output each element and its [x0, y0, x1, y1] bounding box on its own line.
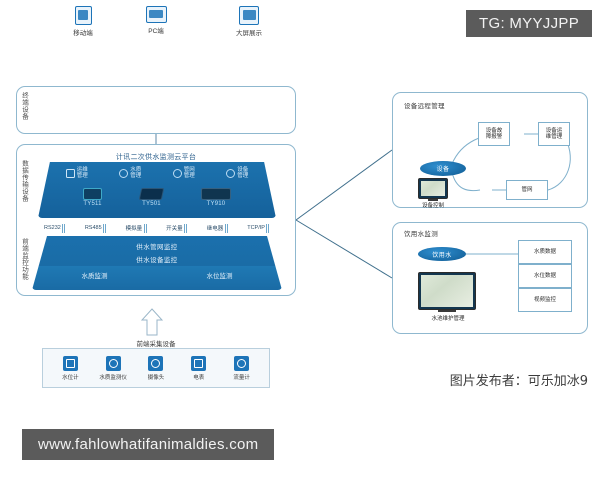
management-label: 水质 管理 — [130, 167, 141, 179]
management-label: 运维 管理 — [77, 167, 88, 179]
terminal-device-mobile[interactable]: 移动端 — [56, 6, 110, 37]
management-item-pipe-network[interactable]: 管网 管理 — [173, 167, 195, 179]
monitoring-water-quality: 水质监测 — [32, 270, 157, 280]
router-device-icon — [201, 188, 231, 200]
signal-wave-icon — [184, 224, 188, 233]
water-monitor-caption: 水池维护管理 — [412, 314, 484, 322]
collection-devices-container: 水位计 水质监测仪 摄像头 电表 流量计 — [42, 348, 270, 388]
collection-device-water-quality[interactable]: 水质监测仪 — [93, 356, 133, 381]
water-hub-node[interactable]: 饮用水 — [418, 247, 466, 261]
node-label-line2: 障报警 — [486, 134, 503, 140]
electric-meter-icon — [191, 356, 206, 371]
water-node-level-data[interactable]: 水位数据 — [518, 264, 572, 288]
signal-wave-icon — [266, 224, 270, 233]
water-drop-icon — [119, 169, 128, 178]
flow-meter-icon — [234, 356, 249, 371]
management-label-line2: 管理 — [237, 173, 248, 179]
protocol-label: RS232 — [44, 225, 61, 231]
management-label: 设备 管理 — [237, 167, 248, 179]
protocol-tcpip: TCP/IP — [247, 224, 270, 233]
water-node-video-monitor[interactable]: 视频监控 — [518, 288, 572, 312]
collection-device-label: 水位计 — [50, 373, 90, 381]
protocol-rs232: RS232 — [44, 224, 66, 233]
monitoring-line-equipment: 供水设备监控 — [32, 254, 282, 264]
signal-wave-icon — [103, 224, 107, 233]
protocol-label: 开关量 — [166, 224, 183, 232]
management-label: 管网 管理 — [184, 167, 195, 179]
platform-management-row: 运维 管理 水质 管理 管网 管理 — [38, 167, 276, 179]
platform-device-ty511[interactable]: TY511 — [83, 188, 102, 207]
water-node-quality-data[interactable]: 水质数据 — [518, 240, 572, 264]
water-quality-analyzer-icon — [106, 356, 121, 371]
monitoring-line-pipe: 供水管网监控 — [32, 241, 282, 251]
checklist-icon — [66, 169, 75, 178]
platform-device-row: TY511 TY501 TY910 — [38, 188, 276, 207]
collection-device-label: 摄像头 — [136, 373, 176, 381]
frontend-monitoring-slab: 供水管网监控 供水设备监控 水质监测 水位监测 — [32, 236, 282, 290]
remote-hub-node[interactable]: 设备 — [420, 161, 466, 176]
monitoring-water-level: 水位监测 — [157, 270, 282, 280]
signal-wave-icon — [143, 224, 147, 233]
platform-device-ty501[interactable]: TY501 — [140, 188, 163, 207]
protocol-label: 继电器 — [207, 224, 224, 232]
platform-title: 计讯二次供水监测云平台 — [16, 152, 296, 162]
management-item-ops[interactable]: 运维 管理 — [66, 167, 88, 179]
terminal-device-label: 移动端 — [56, 27, 110, 37]
layer-label-terminal: 终端设备 — [20, 92, 27, 128]
protocol-switch: 开关量 — [166, 224, 188, 233]
collection-device-label: 电表 — [179, 373, 219, 381]
remote-node-fault-alarm[interactable]: 设备故 障报警 — [478, 122, 510, 146]
water-panel-title: 饮用水监测 — [404, 228, 438, 238]
protocol-strip: RS232 RS485 模拟量 开关量 继电器 TCP/IP — [38, 222, 276, 234]
pipe-network-icon — [173, 169, 182, 178]
management-label-line2: 管理 — [184, 173, 195, 179]
camera-icon — [148, 356, 163, 371]
remote-node-ops-management[interactable]: 设备运 维管理 — [538, 122, 570, 146]
terminal-device-bigscreen[interactable]: 大屏展示 — [222, 6, 276, 37]
collection-device-meter[interactable]: 电表 — [179, 356, 219, 381]
layer-label-transmission: 数据传输设备 — [20, 160, 27, 212]
monitoring-split-row: 水质监测 水位监测 — [32, 270, 282, 280]
platform-device-ty910[interactable]: TY910 — [201, 188, 231, 207]
cloud-platform-slab: 运维 管理 水质 管理 管网 管理 — [38, 162, 276, 218]
remote-panel-title: 设备远程管理 — [404, 100, 445, 110]
protocol-label: TCP/IP — [247, 225, 265, 231]
collection-device-camera[interactable]: 摄像头 — [136, 356, 176, 381]
protocol-analog: 模拟量 — [126, 224, 148, 233]
protocol-relay: 继电器 — [207, 224, 229, 233]
management-item-water-quality[interactable]: 水质 管理 — [119, 167, 141, 179]
collection-device-label: 流量计 — [222, 373, 262, 381]
mobile-phone-icon — [75, 6, 92, 25]
terminal-device-label: PC端 — [129, 25, 183, 35]
rtu-device-icon — [83, 188, 102, 200]
layer-label-frontend-function: 前端监控功能 — [20, 238, 27, 290]
wifi-device-icon — [226, 169, 235, 178]
signal-wave-icon — [62, 224, 66, 233]
monitor-stand — [438, 310, 456, 312]
diagram-canvas: 终端设备 移动端 PC端 大屏展示 数据传输设备 前端监控功能 计讯二次供水监测… — [0, 0, 600, 480]
management-label-line2: 管理 — [130, 173, 141, 179]
remote-monitor-caption: 设备控制 — [408, 201, 458, 209]
water-monitor-screen-icon — [418, 272, 476, 310]
node-label-line2: 维管理 — [546, 134, 563, 140]
platform-device-name: TY910 — [201, 201, 231, 207]
management-label-line2: 管理 — [77, 173, 88, 179]
terminal-layer-container — [16, 86, 296, 134]
terminal-device-label: 大屏展示 — [222, 27, 276, 37]
terminal-device-pc[interactable]: PC端 — [129, 6, 183, 35]
desktop-monitor-icon — [146, 6, 167, 23]
platform-device-name: TY511 — [83, 201, 102, 207]
management-item-device[interactable]: 设备 管理 — [226, 167, 248, 179]
gateway-device-icon — [139, 188, 165, 200]
protocol-label: 模拟量 — [126, 224, 143, 232]
collection-device-water-level[interactable]: 水位计 — [50, 356, 90, 381]
collection-title: 前端采集设备 — [16, 338, 296, 348]
large-screen-display-icon — [239, 6, 259, 25]
url-watermark-badge: www.fahlowhatifanimaldies.com — [22, 429, 274, 460]
collection-device-flow[interactable]: 流量计 — [222, 356, 262, 381]
remote-node-pipe-network[interactable]: 管网 — [506, 180, 548, 200]
protocol-rs485: RS485 — [85, 224, 107, 233]
tg-watermark-badge: TG: MYYJJPP — [466, 10, 592, 37]
remote-monitor-screen-icon — [418, 178, 448, 199]
signal-wave-icon — [224, 224, 228, 233]
water-level-gauge-icon — [63, 356, 78, 371]
collection-device-label: 水质监测仪 — [93, 373, 133, 381]
publisher-watermark: 图片发布者：可乐加冰9 — [450, 370, 588, 389]
platform-device-name: TY501 — [140, 201, 163, 207]
upward-flow-arrow-icon — [141, 308, 163, 336]
protocol-label: RS485 — [85, 225, 102, 231]
